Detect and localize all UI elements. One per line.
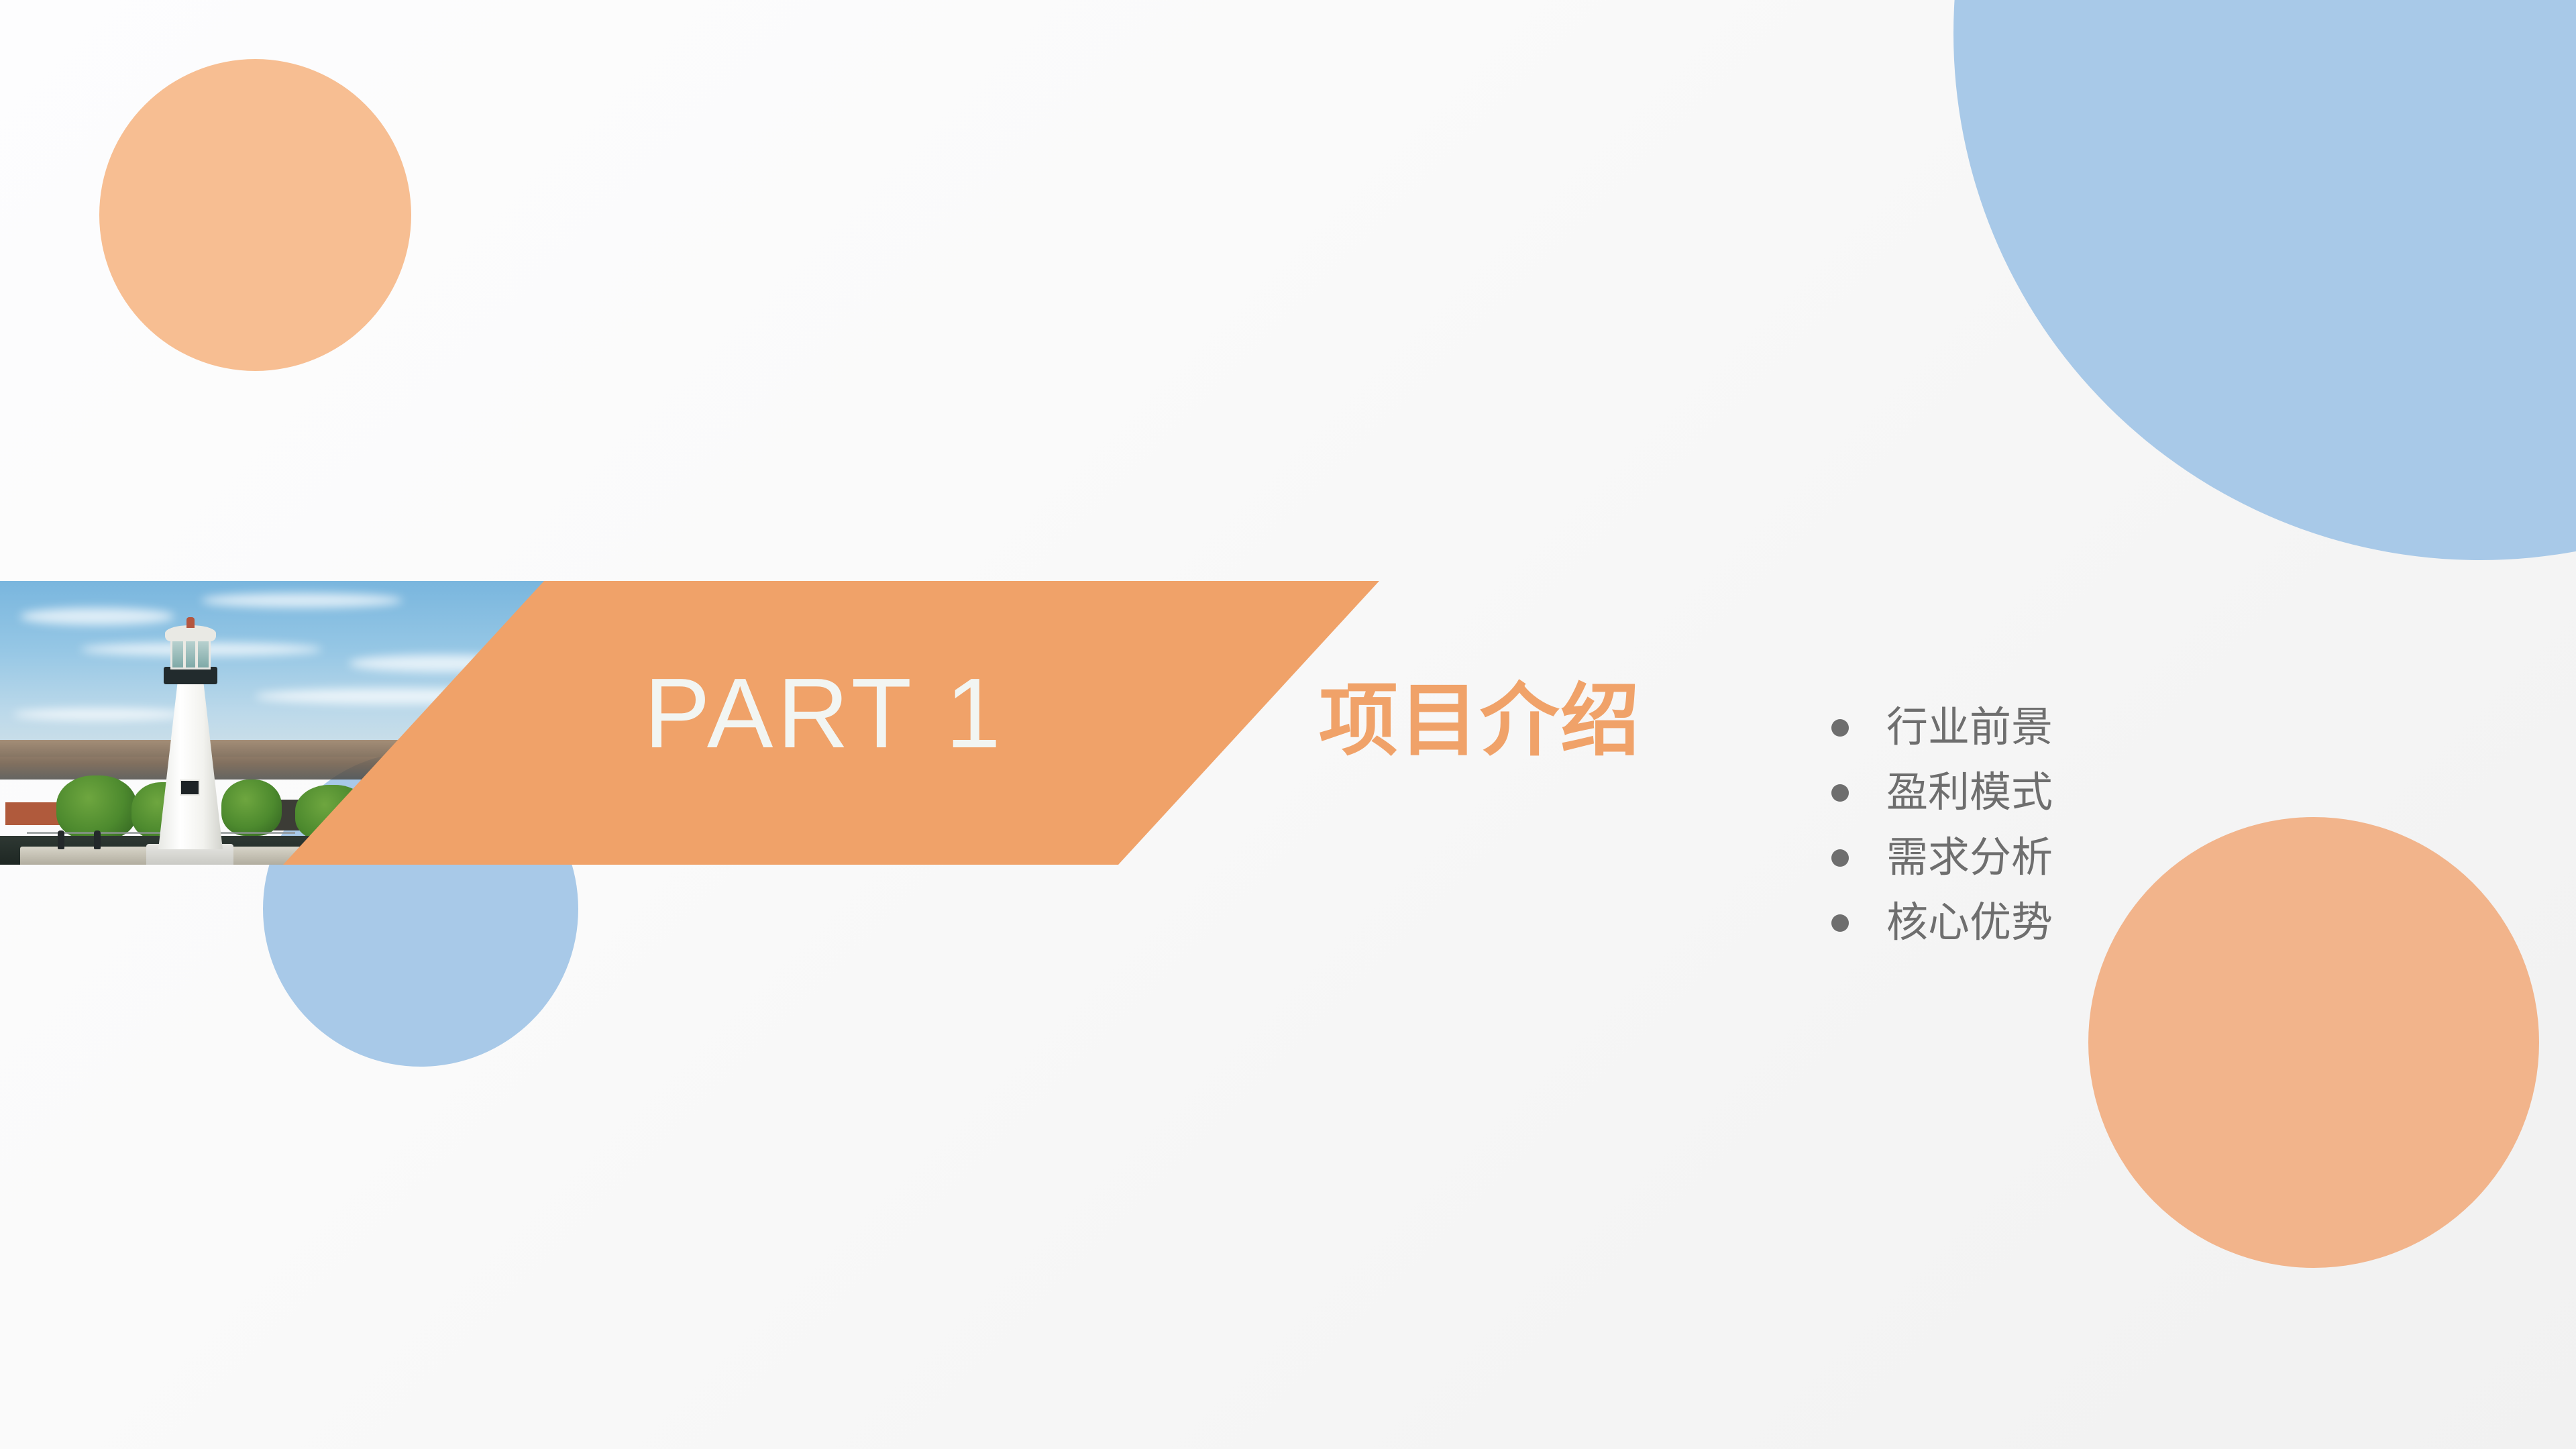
photo-lighthouse-window <box>180 780 200 796</box>
topic-list-item-3[interactable]: 需求分析 <box>1831 825 2180 890</box>
photo-person <box>58 830 64 849</box>
photo-cloud <box>201 593 402 608</box>
slide-canvas: PART 1 项目介绍 行业前景 盈利模式 需求分析 核心优势 <box>0 0 2576 1449</box>
topic-label: 行业前景 <box>1886 707 2053 749</box>
part-number-label: PART 1 <box>644 664 1114 763</box>
bullet-dot-icon <box>1831 784 1849 802</box>
photo-cloud <box>13 708 188 720</box>
decorative-circle-blue-top-right <box>1953 0 2576 560</box>
topic-label: 盈利模式 <box>1886 772 2053 814</box>
photo-cloud <box>20 608 174 625</box>
photo-person <box>94 830 101 849</box>
decorative-circle-orange-top-left <box>99 59 411 371</box>
photo-lighthouse-lantern <box>170 639 211 669</box>
section-title: 项目介绍 <box>1319 682 1641 761</box>
photo-lighthouse-finial <box>186 617 195 628</box>
bullet-dot-icon <box>1831 719 1849 737</box>
topic-list: 行业前景 盈利模式 需求分析 核心优势 <box>1831 695 2180 955</box>
topic-list-item-2[interactable]: 盈利模式 <box>1831 760 2180 825</box>
topic-list-item-4[interactable]: 核心优势 <box>1831 890 2180 955</box>
topic-label: 核心优势 <box>1886 902 2053 944</box>
topic-label: 需求分析 <box>1886 837 2053 879</box>
photo-building <box>5 802 63 825</box>
bullet-dot-icon <box>1831 849 1849 867</box>
photo-tree <box>221 780 282 836</box>
topic-list-item-1[interactable]: 行业前景 <box>1831 695 2180 760</box>
bullet-dot-icon <box>1831 914 1849 932</box>
